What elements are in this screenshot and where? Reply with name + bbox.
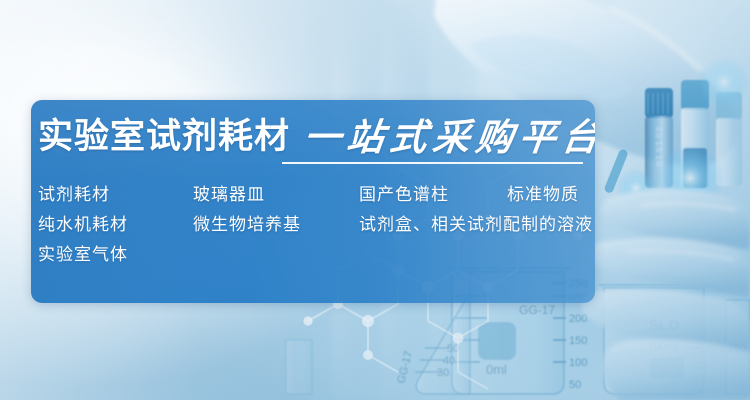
category-row-1: 试剂耗材 玻璃器皿 国产色谱柱 标准物质 (38, 183, 590, 213)
headline: 实验室试剂耗材 一站式采购平台 (38, 117, 595, 157)
headline-primary: 实验室试剂耗材 (38, 117, 290, 157)
category-item-domestic-chromatography-column[interactable]: 国产色谱柱 (359, 183, 449, 207)
headline-underline (282, 162, 583, 164)
category-item-microbial-culture-media[interactable]: 微生物培养基 (193, 213, 301, 237)
category-row-3: 实验室气体 (38, 243, 590, 273)
laboratory-reagent-banner: 250 APPROX 200 150 100 50 GG-17 50 40 30… (0, 0, 750, 400)
category-item-kits-and-solutions[interactable]: 试剂盒、相关试剂配制的溶液 (359, 213, 593, 237)
category-list: 试剂耗材 玻璃器皿 国产色谱柱 标准物质 纯水机耗材 微生物培养基 试剂盒、相关… (38, 183, 590, 273)
headline-panel: 实验室试剂耗材 一站式采购平台 试剂耗材 玻璃器皿 国产色谱柱 标准物质 纯水机… (31, 100, 595, 303)
category-row-2: 纯水机耗材 微生物培养基 试剂盒、相关试剂配制的溶液 (38, 213, 590, 243)
category-item-glassware[interactable]: 玻璃器皿 (193, 183, 265, 207)
headline-secondary: 一站式采购平台 (302, 117, 595, 157)
category-item-water-purifier-consumables[interactable]: 纯水机耗材 (38, 213, 128, 237)
category-item-reference-materials[interactable]: 标准物质 (507, 183, 579, 207)
category-item-reagent-consumables[interactable]: 试剂耗材 (38, 183, 110, 207)
category-item-laboratory-gases[interactable]: 实验室气体 (38, 243, 128, 267)
